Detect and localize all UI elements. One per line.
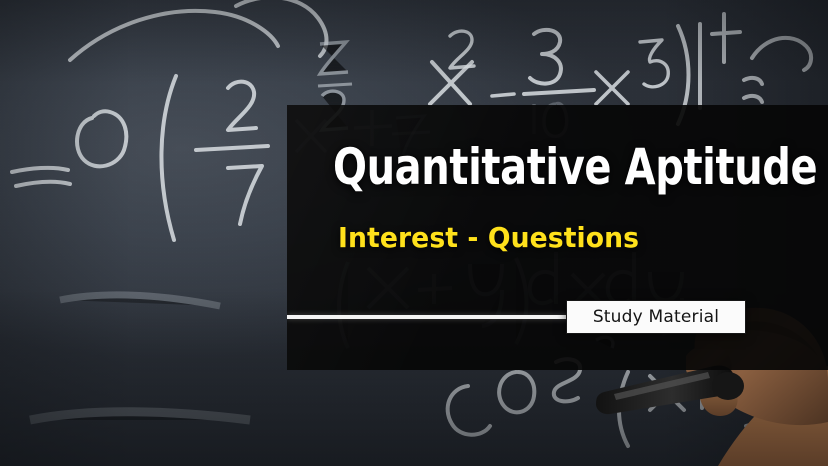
divider-rule bbox=[287, 315, 583, 319]
page-title: Quantitative Aptitude bbox=[333, 142, 817, 192]
content-panel: Quantitative Aptitude Interest - Questio… bbox=[287, 105, 828, 370]
status-badge: Study Material bbox=[566, 300, 746, 334]
status-badge-label: Study Material bbox=[593, 307, 719, 327]
course-banner: Quantitative Aptitude Interest - Questio… bbox=[0, 0, 828, 466]
page-subtitle: Interest - Questions bbox=[338, 224, 639, 252]
